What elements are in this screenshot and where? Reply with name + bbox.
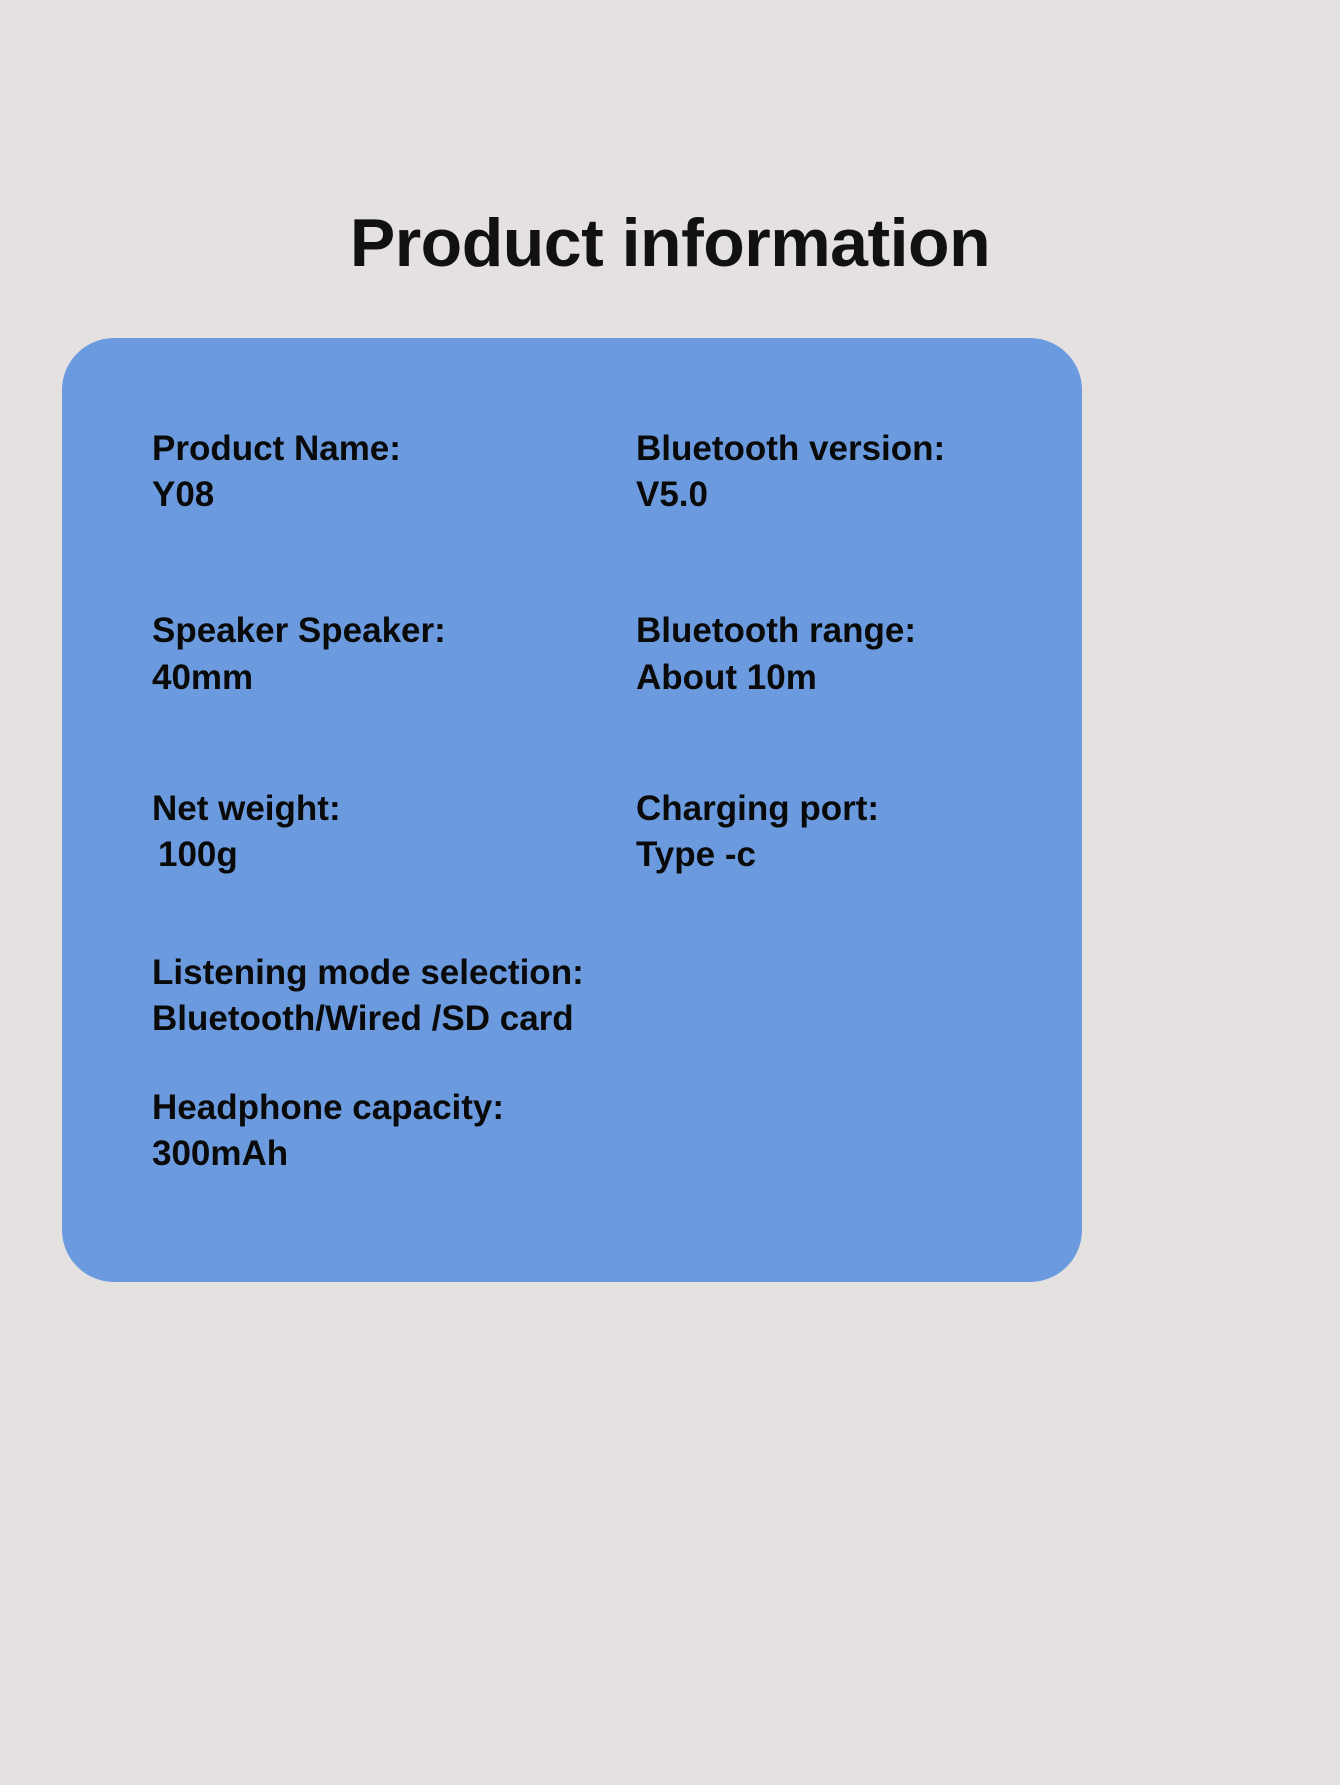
spec-item-bluetooth-version: Bluetooth version: V5.0 [636,426,1120,518]
spec-label: Charging port: [636,786,1120,832]
spec-label: Bluetooth range: [636,608,1120,654]
spec-item-product-name: Product Name: Y08 [152,426,636,518]
spec-value: V5.0 [636,472,1120,518]
spec-value: 100g [152,832,636,878]
spec-row: Product Name: Y08 Bluetooth version: V5.… [152,426,1042,518]
spec-label: Listening mode selection: [152,950,1042,996]
spec-item-headphone-capacity: Headphone capacity: 300mAh [152,1085,1042,1177]
page-title: Product information [0,206,1340,281]
spec-row: Listening mode selection: Bluetooth/Wire… [152,950,1042,1042]
spec-row: Net weight: 100g Charging port: Type -c [152,786,1042,878]
spec-item-speaker: Speaker Speaker: 40mm [152,608,636,700]
spec-item-charging-port: Charging port: Type -c [636,786,1120,878]
spec-label: Headphone capacity: [152,1085,1042,1131]
spec-row: Speaker Speaker: 40mm Bluetooth range: A… [152,608,1042,700]
row-spacer [152,701,1042,786]
spec-item-bluetooth-range: Bluetooth range: About 10m [636,608,1120,700]
spec-item-net-weight: Net weight: 100g [152,786,636,878]
spec-label: Product Name: [152,426,636,472]
spec-value: Y08 [152,472,636,518]
row-spacer [152,878,1042,950]
row-spacer [152,518,1042,608]
spec-value: Bluetooth/Wired /SD card [152,996,1042,1042]
spec-value: 40mm [152,655,636,701]
spec-value: About 10m [636,655,1120,701]
row-spacer [152,1043,1042,1085]
product-information-page: Product information Product Name: Y08 Bl… [0,0,1340,1785]
spec-label: Speaker Speaker: [152,608,636,654]
spec-label: Bluetooth version: [636,426,1120,472]
spec-value: 300mAh [152,1131,1042,1177]
specification-grid: Product Name: Y08 Bluetooth version: V5.… [152,426,1042,1177]
spec-row: Headphone capacity: 300mAh [152,1085,1042,1177]
spec-value: Type -c [636,832,1120,878]
specification-card: Product Name: Y08 Bluetooth version: V5.… [62,338,1082,1282]
spec-item-listening-mode: Listening mode selection: Bluetooth/Wire… [152,950,1042,1042]
spec-label: Net weight: [152,786,636,832]
